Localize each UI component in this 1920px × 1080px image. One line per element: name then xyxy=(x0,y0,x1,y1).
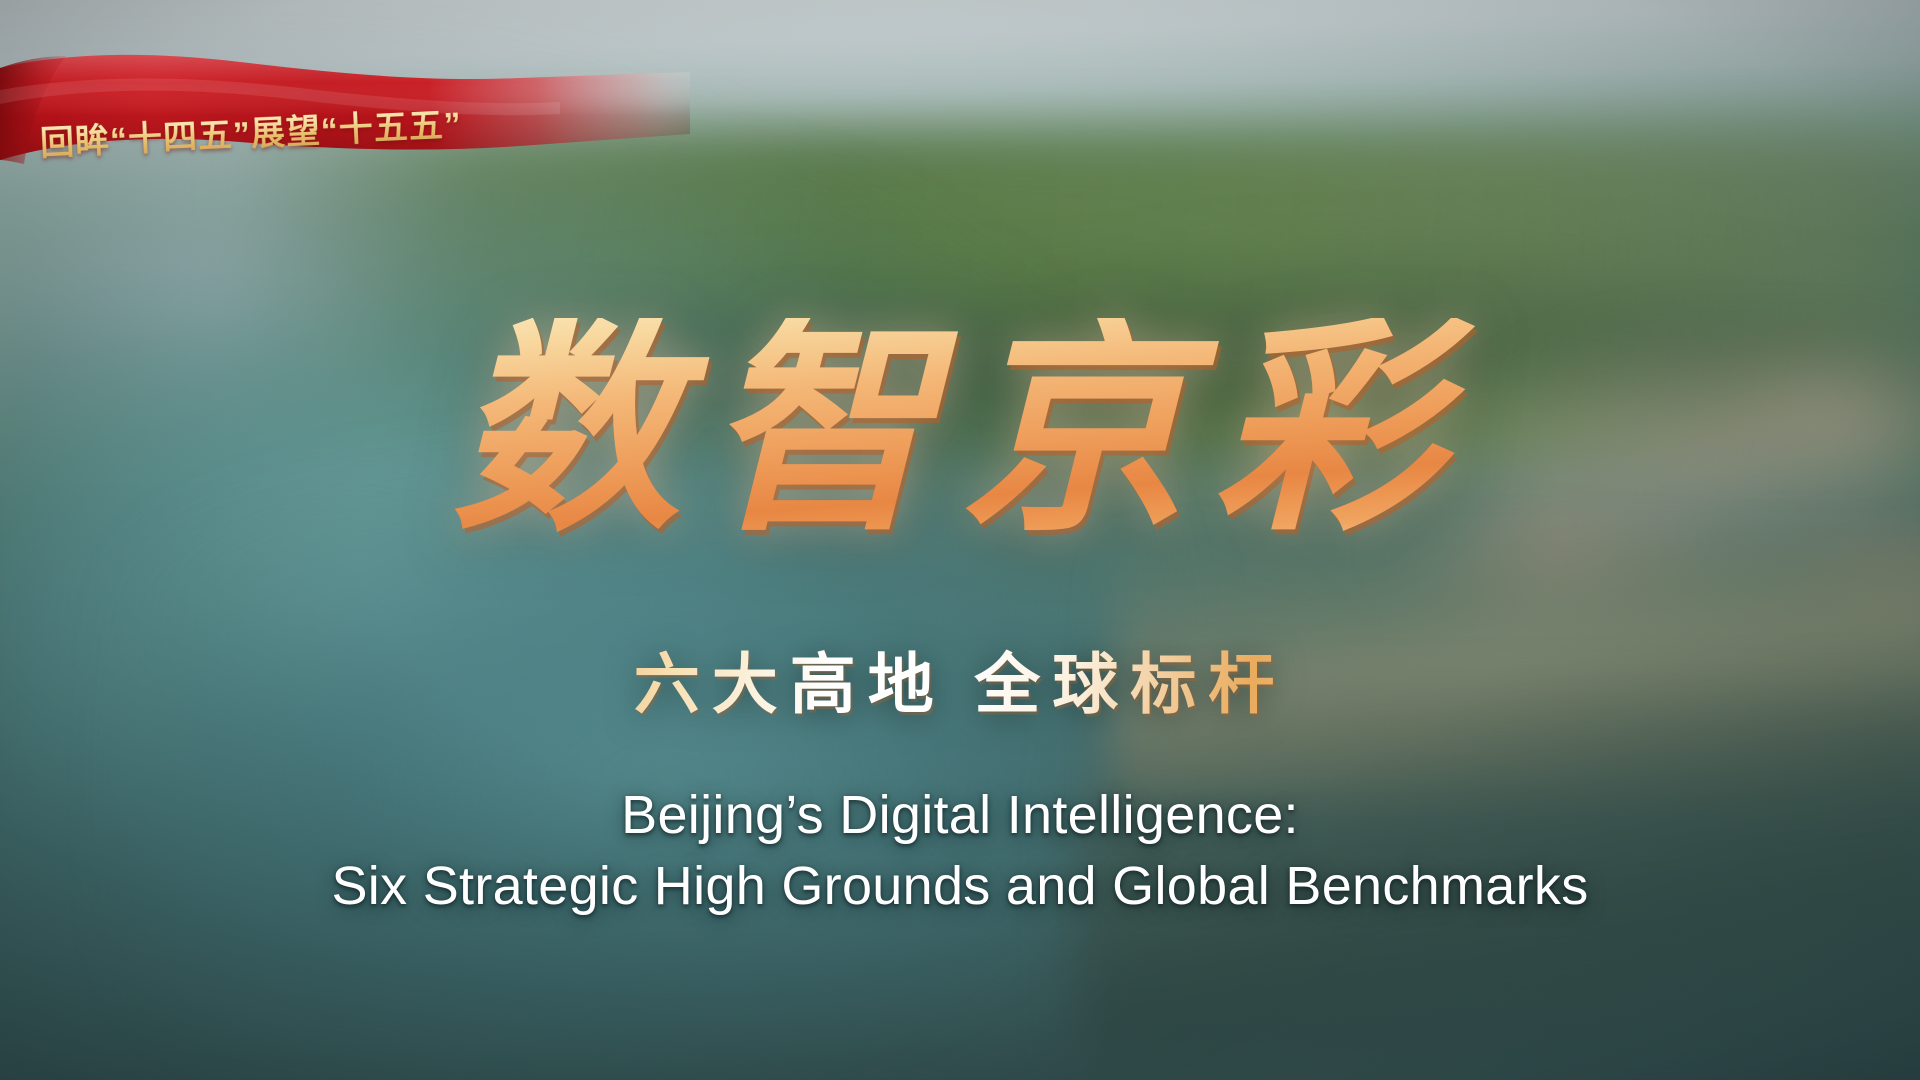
subtitle-english-line-2: Six Strategic High Grounds and Global Be… xyxy=(0,851,1920,922)
title-card: 回眸“十四五”展望“十五五” 数智京彩 六大高地 全球标杆 Beijing’s … xyxy=(0,0,1920,1080)
subtitle-chinese: 六大高地 全球标杆 xyxy=(0,645,1920,728)
subtitle-english: Beijing’s Digital Intelligence: Six Stra… xyxy=(0,780,1920,923)
ribbon-banner: 回眸“十四五”展望“十五五” xyxy=(0,38,690,188)
page-title: 数智京彩 xyxy=(0,318,1920,546)
subtitle-english-line-1: Beijing’s Digital Intelligence: xyxy=(0,780,1920,851)
